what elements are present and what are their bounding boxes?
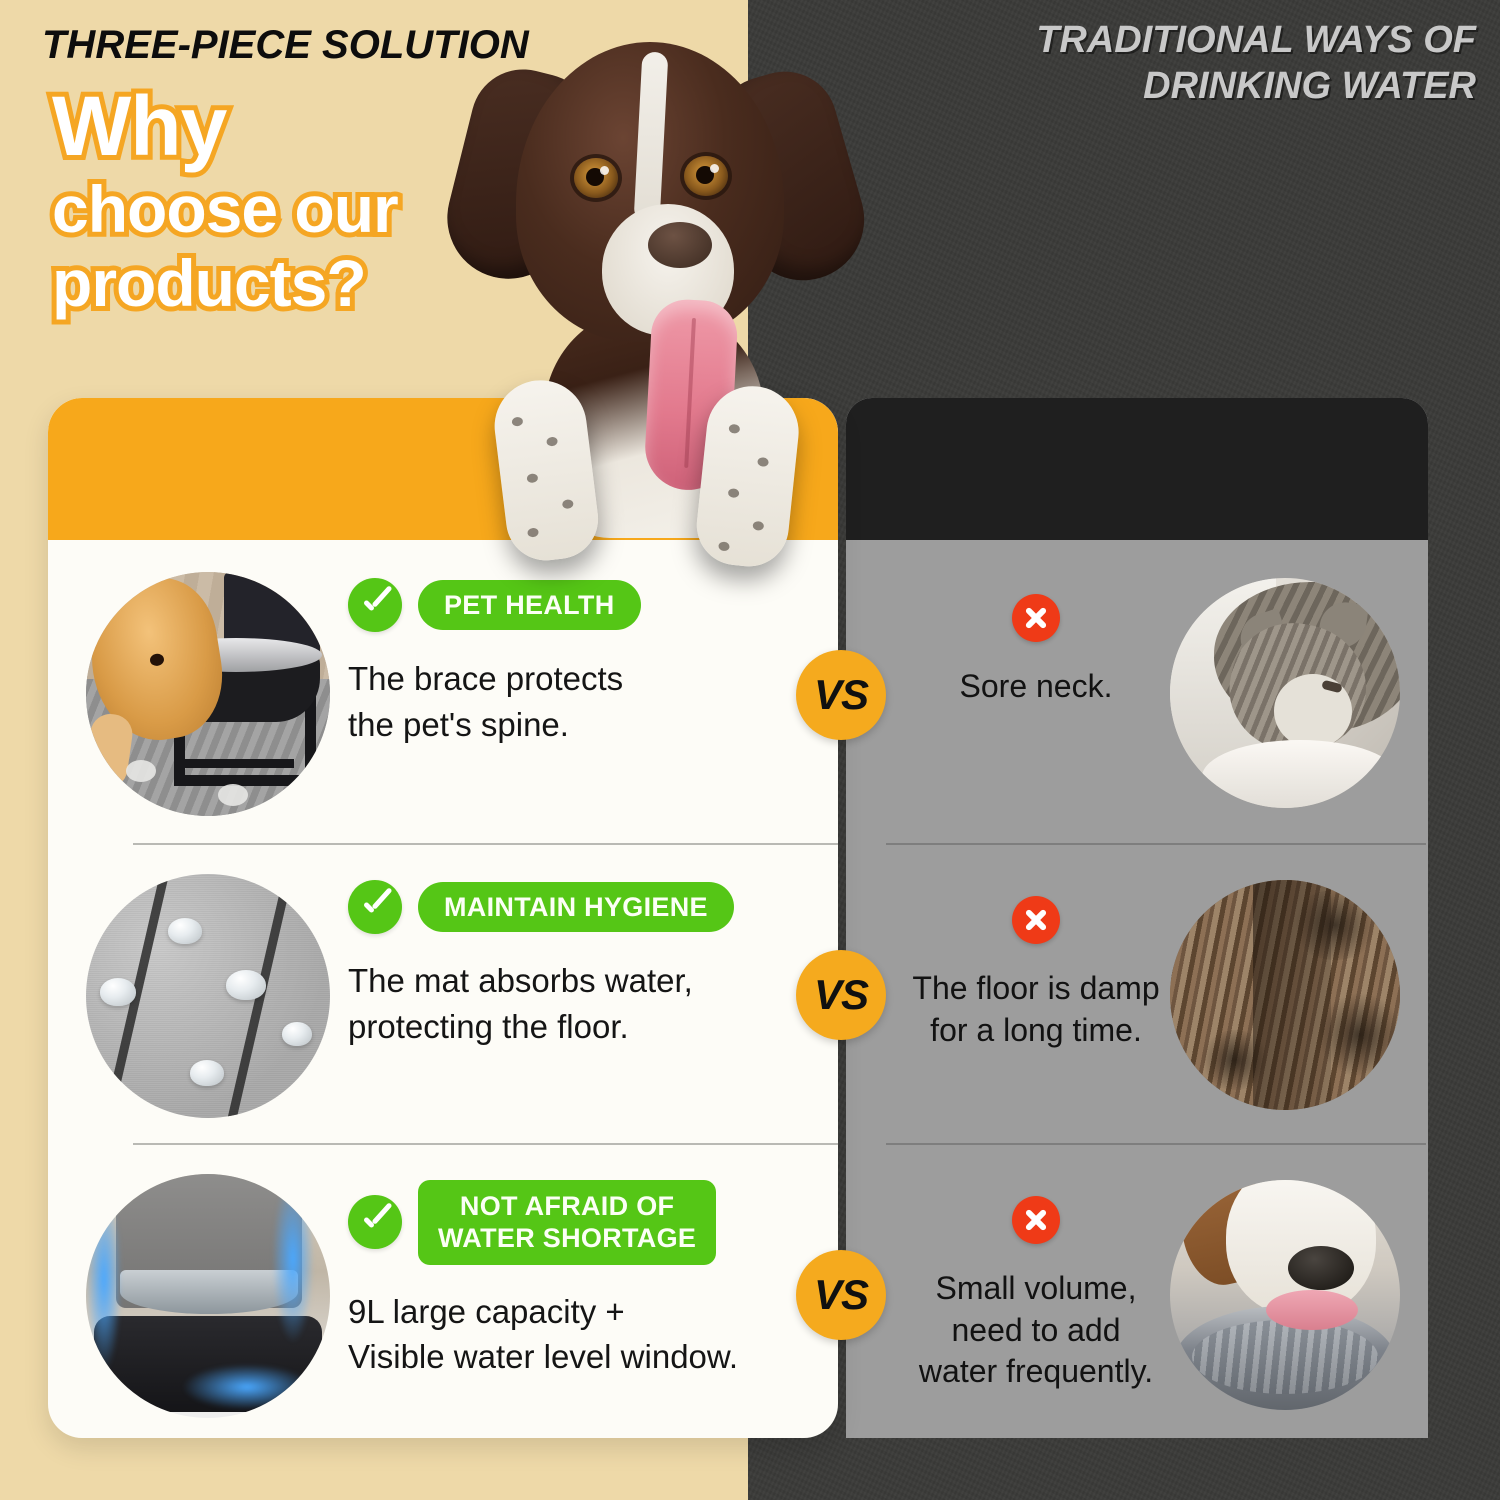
dog-eye-right [684, 156, 728, 196]
feature-badge-label: NOT AFRAID OF WATER SHORTAGE [418, 1180, 716, 1265]
feature-description-line-2: Visible water level window. [348, 1334, 818, 1380]
drawback-image-cat-drinking [1170, 578, 1400, 808]
drawback-image-dog-lapping [1170, 1180, 1400, 1410]
feature-image-absorbent-mat [86, 874, 330, 1118]
vs-badge-3: VS [796, 1250, 886, 1340]
right-card-header-band [846, 398, 1428, 540]
drawback-description-line-2: need to add [886, 1310, 1186, 1352]
feature-description-line-1: The mat absorbs water, [348, 958, 818, 1004]
dog-nose [648, 222, 712, 268]
left-divider-2 [133, 1143, 838, 1145]
infographic-canvas: Why choose our products? [0, 0, 1500, 1500]
check-circle-icon [348, 578, 402, 632]
drawback-description-line-1: The floor is damp [886, 968, 1186, 1010]
drawback-description: Small volume, need to add water frequent… [886, 1268, 1186, 1393]
drawback-description-line-2: for a long time. [886, 1010, 1186, 1052]
badge-row-water-shortage: NOT AFRAID OF WATER SHORTAGE [348, 1180, 818, 1265]
drawback-content-sore-neck: Sore neck. [886, 594, 1186, 708]
check-circle-icon [348, 880, 402, 934]
right-panel-title-line-2: DRINKING WATER [936, 64, 1476, 110]
feature-badge-line-2: WATER SHORTAGE [438, 1222, 696, 1254]
traditional-ways-card: Sore neck. The floor is damp for a long … [846, 398, 1428, 1438]
badge-row-maintain-hygiene: MAINTAIN HYGIENE [348, 880, 818, 934]
right-panel-title-line-1: TRADITIONAL WAYS OF [936, 18, 1476, 64]
feature-description: 9L large capacity + Visible water level … [348, 1289, 818, 1380]
drawback-description: The floor is damp for a long time. [886, 968, 1186, 1051]
left-divider-1 [133, 843, 838, 845]
drawback-row-damp-floor: The floor is damp for a long time. [846, 850, 1428, 1140]
drawback-row-small-volume: Small volume, need to add water frequent… [846, 1150, 1428, 1438]
feature-row-maintain-hygiene: MAINTAIN HYGIENE The mat absorbs water, … [48, 850, 838, 1140]
feature-description-line-1: 9L large capacity + [348, 1289, 818, 1335]
drawback-row-sore-neck: Sore neck. [846, 548, 1428, 838]
feature-image-water-dispenser [86, 1174, 330, 1418]
feature-badge-label: PET HEALTH [418, 580, 641, 630]
dog-eye-left [574, 158, 618, 198]
cross-circle-icon [1012, 594, 1060, 642]
cross-circle-icon [1012, 896, 1060, 944]
feature-content-maintain-hygiene: MAINTAIN HYGIENE The mat absorbs water, … [348, 880, 818, 1049]
feature-row-water-shortage: NOT AFRAID OF WATER SHORTAGE 9L large ca… [48, 1150, 838, 1438]
right-divider-2 [886, 1143, 1426, 1145]
vs-badge-1: VS [796, 650, 886, 740]
drawback-content-damp-floor: The floor is damp for a long time. [886, 896, 1186, 1051]
feature-description-line-1: The brace protects [348, 656, 818, 702]
feature-content-water-shortage: NOT AFRAID OF WATER SHORTAGE 9L large ca… [348, 1180, 818, 1380]
feature-description: The brace protects the pet's spine. [348, 656, 818, 747]
right-divider-1 [886, 843, 1426, 845]
feature-badge-line-1: NOT AFRAID OF [438, 1190, 696, 1222]
drawback-image-damp-floor [1170, 880, 1400, 1110]
check-circle-icon [348, 1195, 402, 1249]
feature-description: The mat absorbs water, protecting the fl… [348, 958, 818, 1049]
vs-badge-2: VS [796, 950, 886, 1040]
badge-row-pet-health: PET HEALTH [348, 578, 818, 632]
drawback-description-line-1: Sore neck. [886, 666, 1186, 708]
feature-row-pet-health: PET HEALTH The brace protects the pet's … [48, 548, 838, 838]
feature-description-line-2: protecting the floor. [348, 1004, 818, 1050]
feature-content-pet-health: PET HEALTH The brace protects the pet's … [348, 578, 818, 747]
hero-dog-image [452, 8, 852, 568]
drawback-description: Sore neck. [886, 666, 1186, 708]
drawback-description-line-3: water frequently. [886, 1351, 1186, 1393]
feature-image-elevated-bowl [86, 572, 330, 816]
drawback-description-line-1: Small volume, [886, 1268, 1186, 1310]
drawback-content-small-volume: Small volume, need to add water frequent… [886, 1196, 1186, 1393]
feature-badge-label: MAINTAIN HYGIENE [418, 882, 734, 932]
feature-description-line-2: the pet's spine. [348, 702, 818, 748]
right-panel-title: TRADITIONAL WAYS OF DRINKING WATER [936, 18, 1476, 109]
cross-circle-icon [1012, 1196, 1060, 1244]
